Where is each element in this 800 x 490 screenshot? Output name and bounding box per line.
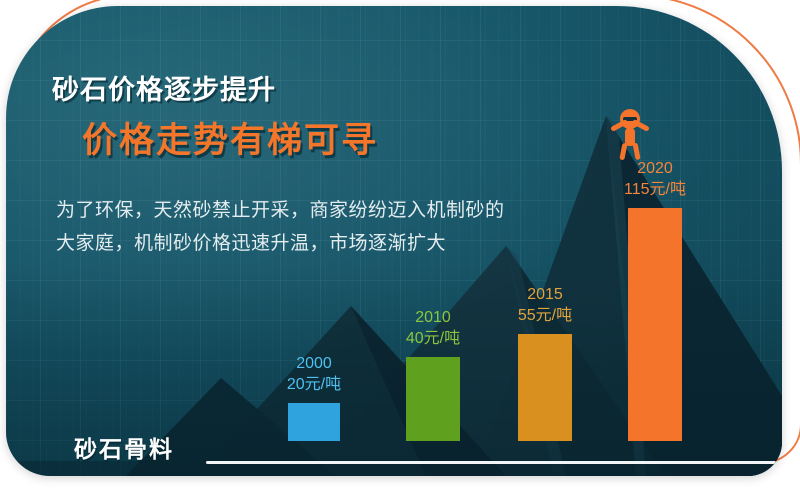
chart-bar-price: 55元/吨 [488,305,602,326]
chart-bar-label: 201555元/吨 [488,284,602,326]
chart-bar-year: 2010 [376,307,490,328]
poster-card: 砂石价格逐步提升 价格走势有梯可寻 为了环保，天然砂禁止开采，商家纷纷迈入机制砂… [6,6,782,476]
chart-bar [628,208,682,441]
chart-bar [518,334,572,441]
chart-bar-year: 2000 [258,353,370,374]
brand-label: 砂石骨料 [74,430,174,464]
chart-axis-line [206,461,776,464]
chart-bar-year: 2015 [488,284,602,305]
chart-bar [288,403,340,441]
chart-bar-label: 201040元/吨 [376,307,490,349]
person-raising-arms-icon [606,106,654,162]
page-subtitle: 价格走势有梯可寻 [82,112,378,163]
chart-bar-price: 40元/吨 [376,328,490,349]
chart-bar [406,357,460,441]
chart-bar-label: 2020115元/吨 [598,158,712,200]
infographic-poster: 砂石价格逐步提升 价格走势有梯可寻 为了环保，天然砂禁止开采，商家纷纷迈入机制砂… [0,0,800,490]
description-paragraph: 为了环保，天然砂禁止开采，商家纷纷迈入机制砂的大家庭，机制砂价格迅速升温，市场逐… [56,194,516,260]
page-title: 砂石价格逐步提升 [52,68,276,107]
chart-bar-price: 20元/吨 [258,374,370,395]
chart-bar-label: 200020元/吨 [258,353,370,395]
chart-bar-price: 115元/吨 [598,179,712,200]
chart-bar-year: 2020 [598,158,712,179]
